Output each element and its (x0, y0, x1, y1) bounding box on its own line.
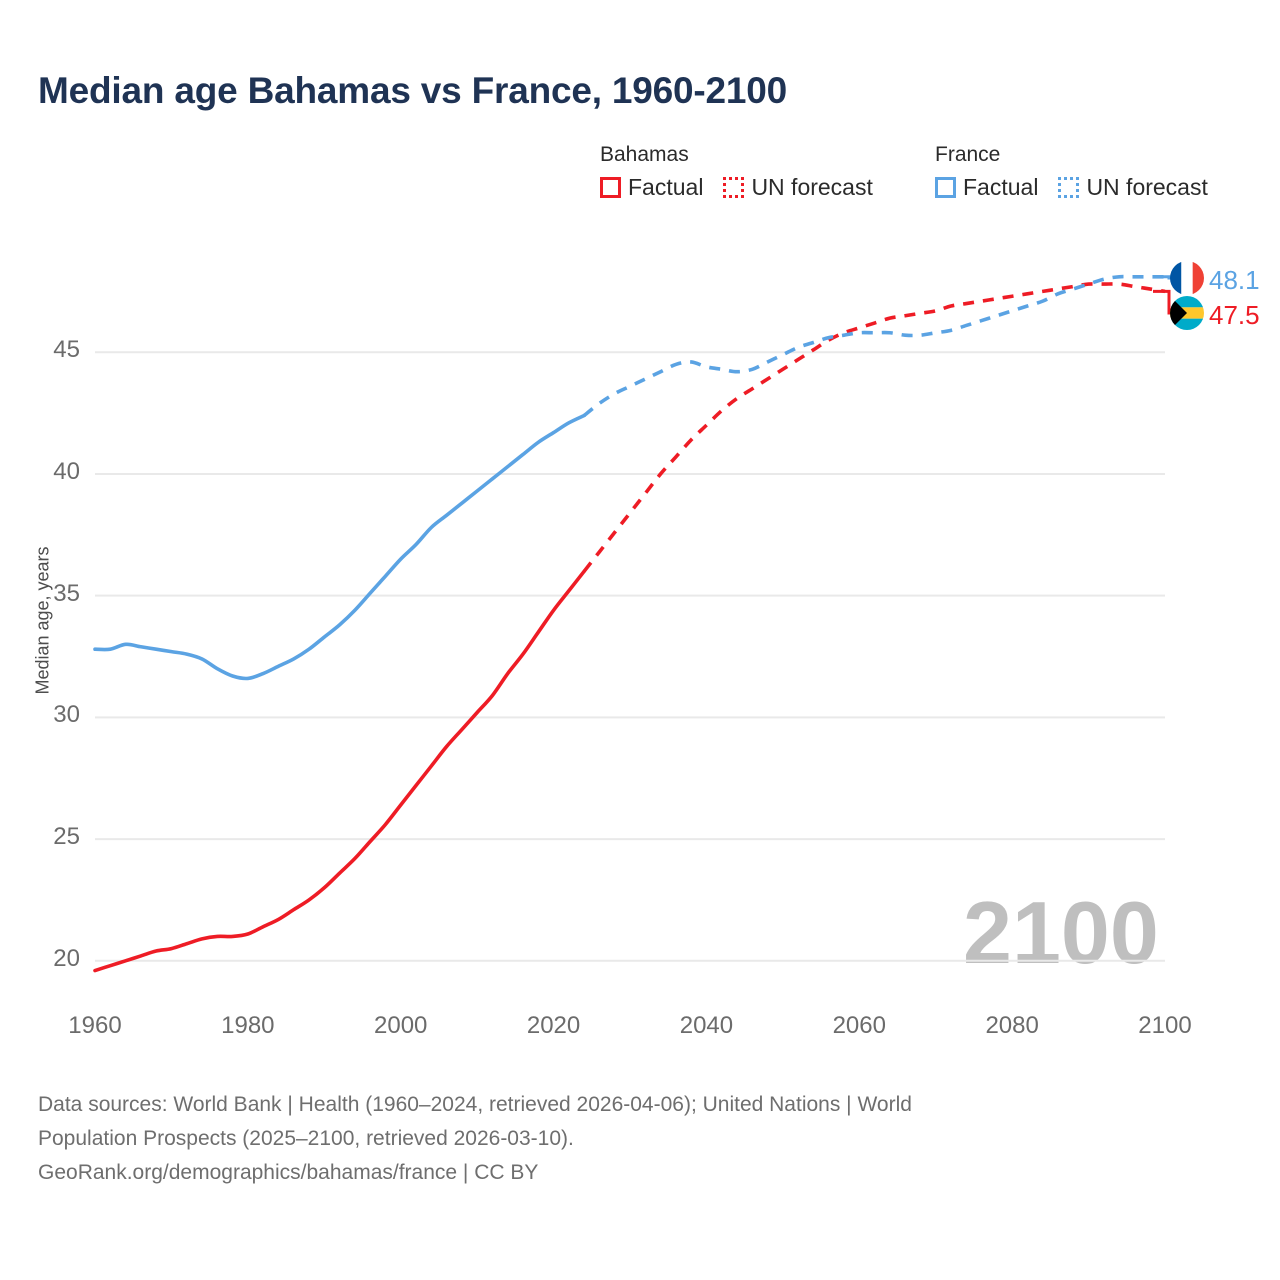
footer-line-3: GeoRank.org/demographics/bahamas/france … (38, 1156, 1238, 1190)
gridlines (95, 352, 1165, 961)
y-tick-label: 20 (20, 945, 80, 973)
end-label-bahamas: 47.5 (1209, 300, 1260, 331)
y-tick-label: 45 (20, 336, 80, 364)
footer-line-1: Data sources: World Bank | Health (1960–… (38, 1088, 1238, 1122)
y-tick-label: 35 (20, 580, 80, 608)
series-line-bahamas-factual (95, 571, 584, 970)
flag-france-icon (1170, 261, 1204, 295)
y-tick-label: 40 (20, 458, 80, 486)
footer-sources: Data sources: World Bank | Health (1960–… (38, 1088, 1238, 1190)
series-line-france-factual (95, 416, 584, 679)
series-line-bahamas-forecast (584, 284, 1165, 571)
x-tick-label: 1980 (203, 1012, 293, 1040)
x-tick-label: 2020 (509, 1012, 599, 1040)
y-axis-title: Median age, years (33, 521, 54, 721)
series-line-france-forecast (584, 277, 1165, 416)
x-tick-label: 2040 (661, 1012, 751, 1040)
flag-bahamas-icon (1170, 296, 1204, 330)
y-tick-label: 25 (20, 823, 80, 851)
x-tick-label: 2080 (967, 1012, 1057, 1040)
end-label-france: 48.1 (1209, 265, 1260, 296)
footer-line-2: Population Prospects (2025–2100, retriev… (38, 1122, 1238, 1156)
x-tick-label: 2000 (356, 1012, 446, 1040)
x-tick-label: 2100 (1120, 1012, 1210, 1040)
series-lines (95, 277, 1165, 971)
x-tick-label: 1960 (50, 1012, 140, 1040)
y-tick-label: 30 (20, 701, 80, 729)
chart-page: Median age Bahamas vs France, 1960-2100 … (0, 0, 1280, 1280)
x-tick-label: 2060 (814, 1012, 904, 1040)
